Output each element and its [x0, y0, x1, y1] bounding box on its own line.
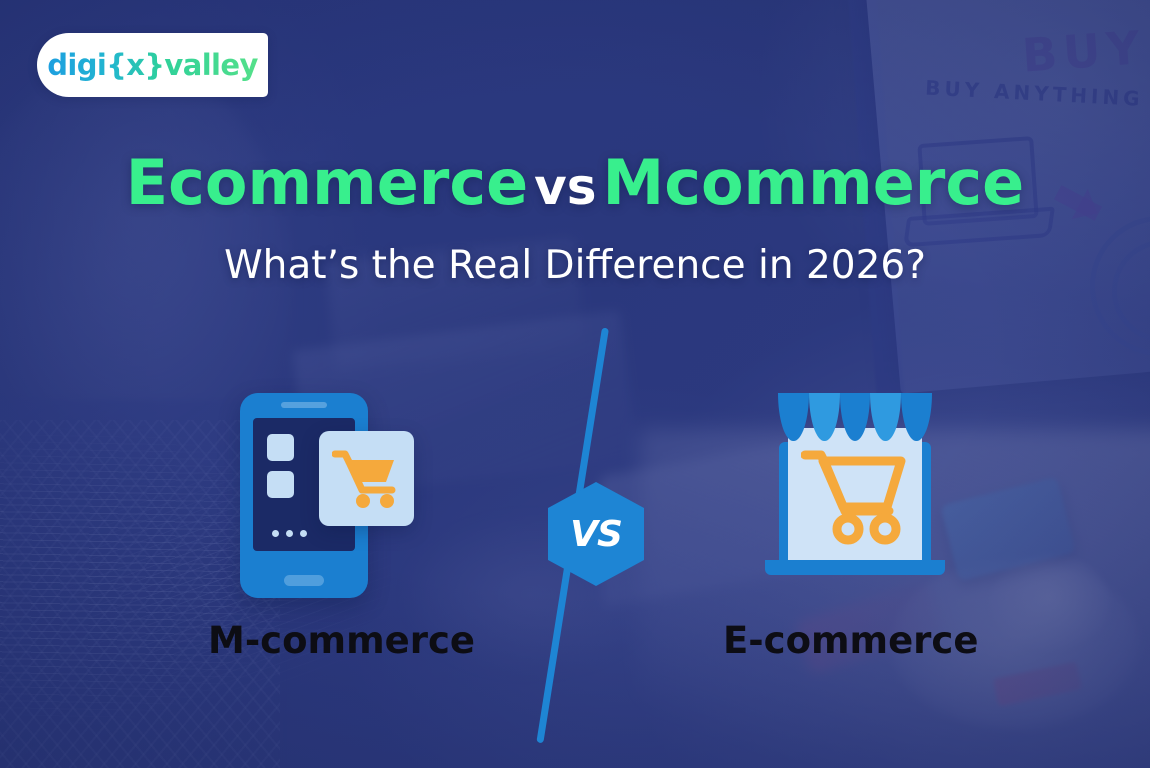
- phone-content-tile-1: [267, 434, 294, 461]
- phone-loading-dots-icon: [272, 530, 307, 537]
- phone-home-bar-icon: [284, 575, 324, 586]
- label-mcommerce: M-commerce: [208, 619, 475, 662]
- store-cart-icon-wrap: [801, 447, 909, 552]
- phone-speaker-icon: [281, 402, 327, 408]
- phone-content-tile-2: [267, 471, 294, 498]
- title-part-ecommerce: Ecommerce: [126, 146, 528, 219]
- shopping-cart-card: [319, 431, 414, 526]
- versus-badge-label: VS: [570, 514, 622, 555]
- online-store-laptop-icon: [765, 392, 945, 587]
- title-part-mcommerce: Mcommerce: [603, 146, 1025, 219]
- storefront-awning-icon: [778, 393, 932, 441]
- laptop-base: [765, 560, 945, 575]
- shopping-cart-icon: [332, 448, 402, 510]
- page-subtitle: What’s the Real Difference in 2026?: [0, 240, 1150, 292]
- label-ecommerce: E-commerce: [723, 619, 978, 662]
- brand-logo-text: digi{x}valley: [47, 48, 258, 82]
- page-title: EcommercevsMcommerce: [0, 146, 1150, 224]
- brand-logo[interactable]: digi{x}valley: [37, 33, 268, 97]
- title-versus-word: vs: [528, 158, 602, 216]
- promo-banner: BUY O BUY ANYTHING YOU WAN digi{x}valley…: [0, 0, 1150, 768]
- shopping-cart-outline-icon: [801, 447, 909, 547]
